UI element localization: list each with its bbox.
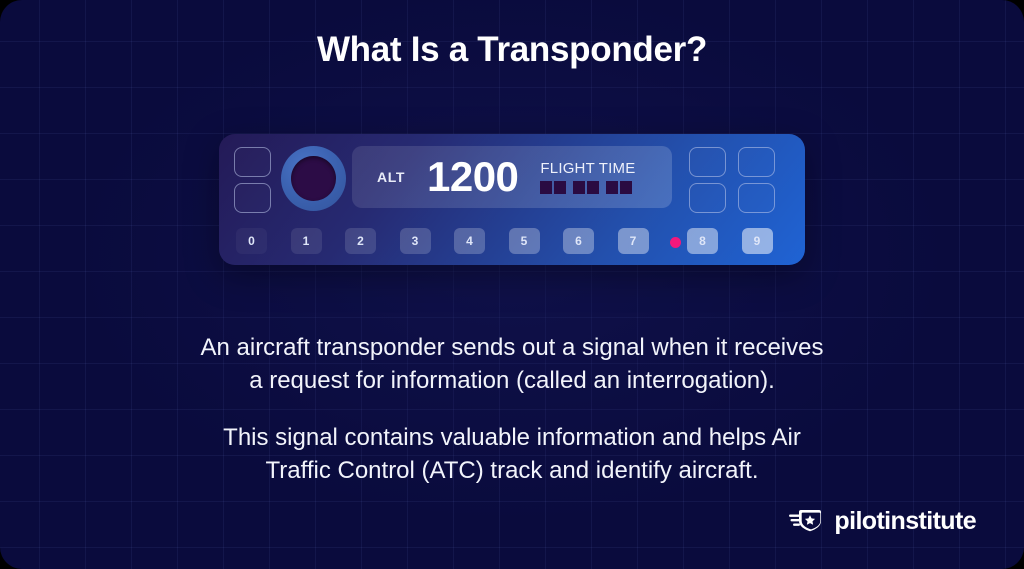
- right-button-2[interactable]: [689, 183, 726, 213]
- paragraph-two: This signal contains valuable informatio…: [0, 421, 1024, 487]
- flight-time-label: FLIGHT TIME: [540, 161, 635, 176]
- slide-canvas: What Is a Transponder? ALT 1200 FLIGHT T…: [0, 0, 1024, 569]
- status-indicator: [670, 237, 681, 248]
- right-button-1[interactable]: [689, 147, 726, 177]
- keypad-button-2[interactable]: 2: [345, 228, 376, 254]
- mode-knob[interactable]: [281, 146, 346, 211]
- paragraph-one-line-two: a request for information (called an int…: [249, 367, 775, 394]
- paragraph-one-line-one: An aircraft transponder sends out a sign…: [200, 334, 823, 361]
- device-upper-panel: ALT 1200 FLIGHT TIME: [219, 134, 805, 220]
- paragraph-two-line-one: This signal contains valuable informatio…: [223, 424, 801, 451]
- keypad-button-1[interactable]: 1: [291, 228, 322, 254]
- mode-label: ALT: [377, 169, 405, 185]
- right-button-3[interactable]: [738, 147, 775, 177]
- brand-name: pilotinstitute: [834, 507, 976, 536]
- keypad-button-3[interactable]: 3: [400, 228, 431, 254]
- flight-time-block: FLIGHT TIME: [540, 161, 635, 194]
- segment-block: [620, 181, 632, 194]
- left-button-2[interactable]: [234, 183, 271, 213]
- segment-block: [554, 181, 566, 194]
- keypad-button-5[interactable]: 5: [509, 228, 540, 254]
- brand-logo: pilotinstitute: [789, 506, 976, 537]
- right-button-4[interactable]: [738, 183, 775, 213]
- segment-pair: [540, 181, 566, 194]
- squawk-code-readout: 1200: [427, 156, 518, 198]
- transponder-device: ALT 1200 FLIGHT TIME: [219, 134, 805, 265]
- flight-time-segments: [540, 181, 632, 194]
- keypad-button-9[interactable]: 9: [742, 228, 773, 254]
- numeric-keypad: 0123456789: [219, 220, 805, 265]
- transponder-display: ALT 1200 FLIGHT TIME: [352, 146, 672, 208]
- segment-block: [606, 181, 618, 194]
- paragraph-two-line-two: Traffic Control (ATC) track and identify…: [265, 457, 758, 484]
- segment-pair: [606, 181, 632, 194]
- left-button-1[interactable]: [234, 147, 271, 177]
- winged-shield-star-icon: [789, 506, 825, 537]
- segment-block: [540, 181, 552, 194]
- segment-block: [573, 181, 585, 194]
- keypad-button-8[interactable]: 8: [687, 228, 718, 254]
- keypad-button-4[interactable]: 4: [454, 228, 485, 254]
- keypad-button-6[interactable]: 6: [563, 228, 594, 254]
- segment-block: [587, 181, 599, 194]
- keypad-button-0[interactable]: 0: [236, 228, 267, 254]
- mode-knob-center: [291, 156, 336, 201]
- keypad-button-7[interactable]: 7: [618, 228, 649, 254]
- page-title: What Is a Transponder?: [0, 30, 1024, 70]
- segment-pair: [573, 181, 599, 194]
- paragraph-one: An aircraft transponder sends out a sign…: [0, 331, 1024, 397]
